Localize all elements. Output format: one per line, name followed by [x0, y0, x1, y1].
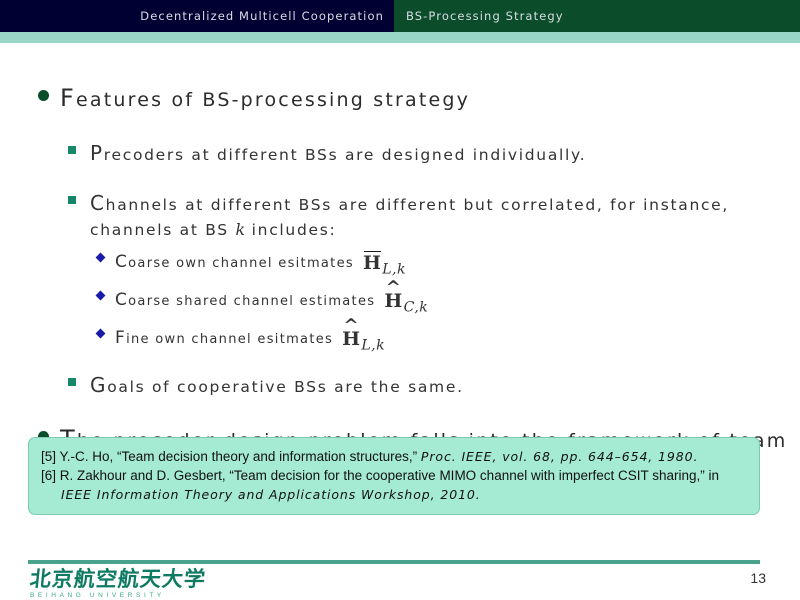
sub-bullet-channels-text: hannels at different BSs are different b… — [106, 196, 729, 214]
diamond-bullet-icon — [96, 253, 106, 263]
logo-english-text: BEIHANG UNIVERSITY — [30, 592, 200, 599]
sub-bullet-goals-cap: G — [90, 373, 107, 397]
math-hat-accent-icon: ^ — [384, 279, 403, 297]
item-coarse-own-cap: C — [115, 252, 128, 272]
sub-bullet-channels: Channels at different BSs are different … — [0, 188, 800, 242]
item-fine-own-text: ine own channel esitmates — [126, 332, 333, 347]
logo-chinese-text: 北京航空航天大学 — [29, 568, 201, 589]
slide-body: Features of BS-processing strategy Preco… — [0, 43, 800, 487]
header-right-title: BS-Processing Strategy — [406, 9, 564, 23]
square-bullet-icon — [68, 196, 76, 204]
sub-bullet-precoders-text: recoders at different BSs are designed i… — [104, 146, 587, 164]
square-bullet-icon — [68, 378, 76, 386]
page-number: 13 — [750, 570, 766, 586]
sub-bullet-goals-text: oals of cooperative BSs are the same. — [107, 378, 464, 396]
sub-bullet-channels-line2: channels at BS k includes: — [90, 218, 800, 242]
item-coarse-shared-cap: C — [115, 290, 128, 310]
sub-bullet-goals: Goals of cooperative BSs are the same. — [0, 370, 800, 400]
channels-line2-suffix: includes: — [245, 221, 336, 239]
item-fine-own-cap: F — [115, 328, 126, 348]
bullet-features-cap: F — [60, 84, 76, 112]
math-subscript: L,k — [361, 337, 385, 353]
bullet-features-text: eatures of BS-processing strategy — [76, 89, 470, 111]
channels-index-k: k — [235, 220, 245, 239]
item-coarse-own-text: oarse own channel esitmates — [128, 256, 354, 271]
sub-bullet-precoders: Precoders at different BSs are designed … — [0, 138, 800, 168]
reference-5-italic: Proc. IEEE, vol. 68, pp. 644–654, 1980. — [421, 449, 698, 464]
reference-6-plain: [6] R. Zakhour and D. Gesbert, “Team dec… — [41, 468, 719, 483]
item-coarse-shared-text: oarse shared channel estimates — [128, 294, 375, 309]
sub-bullet-precoders-cap: P — [90, 141, 104, 165]
bullet-features: Features of BS-processing strategy — [0, 81, 800, 116]
footer-divider — [28, 560, 760, 564]
beihang-university-logo: 北京航空航天大学 BEIHANG UNIVERSITY — [30, 568, 200, 598]
diamond-bullet-icon — [96, 290, 106, 300]
header-left-title: Decentralized Multicell Cooperation — [140, 9, 384, 23]
item-fine-own: Fine own channel esitmates H^L,k — [0, 324, 800, 354]
math-symbol-H: H — [363, 250, 382, 278]
math-bar-accent-icon — [364, 251, 380, 253]
header-left-section: Decentralized Multicell Cooperation — [0, 0, 394, 32]
math-hat-accent-icon: ^ — [342, 317, 361, 335]
slide-header: Decentralized Multicell Cooperation BS-P… — [0, 0, 800, 32]
square-bullet-icon — [68, 146, 76, 154]
channels-line2-prefix: channels at BS — [90, 221, 235, 239]
math-subscript: C,k — [404, 299, 429, 315]
math-H-bar-Lk: HL,k — [363, 250, 406, 280]
reference-5-plain: [5] Y.-C. Ho, “Team decision theory and … — [41, 449, 421, 464]
reference-entry-5: [5] Y.-C. Ho, “Team decision theory and … — [41, 447, 745, 466]
math-H-hat-Lk: H^L,k — [342, 326, 385, 356]
bullet-dot-icon — [38, 90, 49, 101]
math-symbol-H: H^ — [384, 288, 403, 316]
math-subscript: L,k — [382, 262, 406, 278]
header-accent-strip — [0, 32, 800, 43]
math-H-hat-Ck: H^C,k — [384, 288, 428, 318]
item-coarse-shared: Coarse shared channel estimates H^C,k — [0, 286, 800, 316]
header-right-section: BS-Processing Strategy — [394, 0, 800, 32]
reference-6-italic: IEEE Information Theory and Applications… — [61, 487, 481, 502]
math-symbol-H: H^ — [342, 326, 361, 354]
diamond-bullet-icon — [96, 328, 106, 338]
sub-bullet-channels-cap: C — [90, 191, 106, 215]
reference-entry-6: [6] R. Zakhour and D. Gesbert, “Team dec… — [41, 466, 745, 504]
item-coarse-own: Coarse own channel esitmates HL,k — [0, 248, 800, 278]
references-box: [5] Y.-C. Ho, “Team decision theory and … — [28, 437, 760, 515]
